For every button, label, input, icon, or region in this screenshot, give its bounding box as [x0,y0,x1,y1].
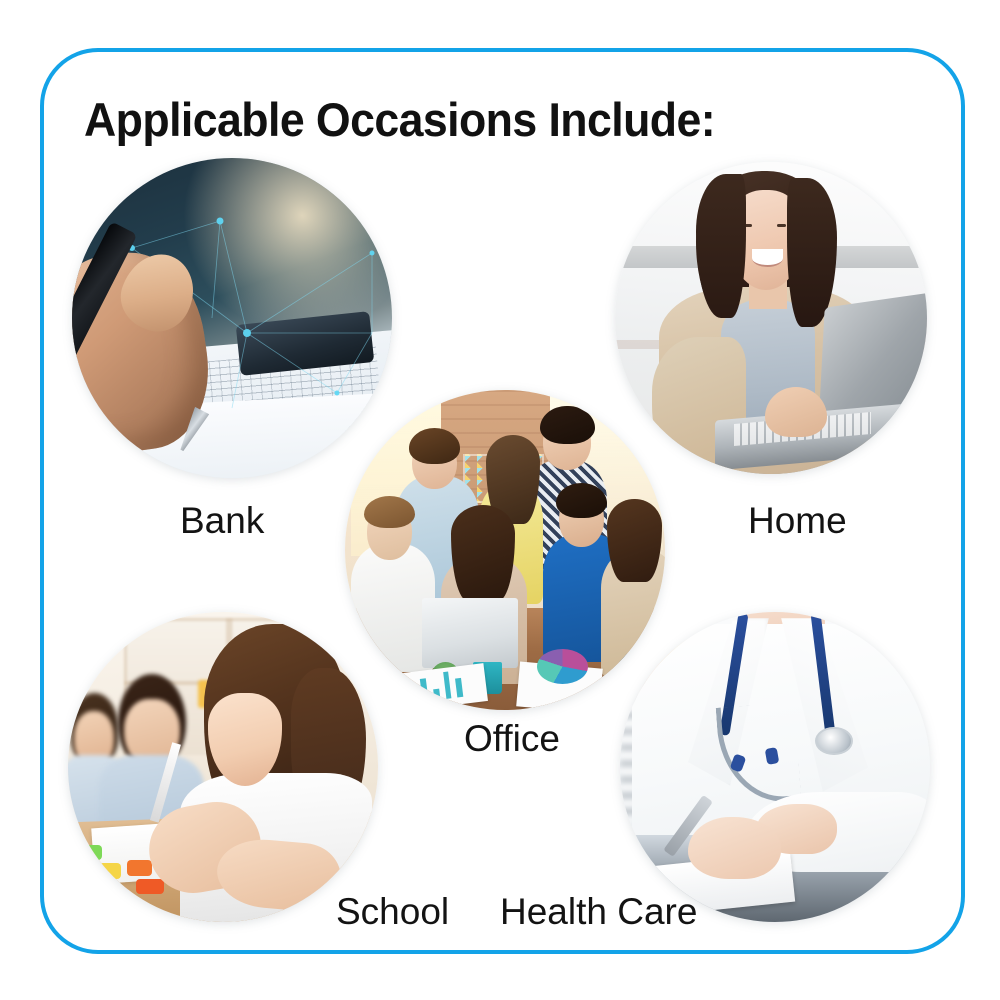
occasion-circle-bank[interactable] [72,158,392,478]
occasion-label-school: School [336,891,449,933]
occasion-circle-office[interactable] [345,390,665,710]
applicable-occasions-panel: Applicable Occasions Include: [0,0,1000,1000]
occasion-circle-school[interactable] [68,612,378,922]
occasion-circle-health-care[interactable] [620,612,930,922]
occasion-label-home: Home [748,500,847,542]
school-photo [68,612,378,922]
occasion-label-office: Office [464,718,560,760]
occasion-label-health-care: Health Care [500,891,697,933]
health-care-photo [620,612,930,922]
bank-photo [72,158,392,478]
office-photo [345,390,665,710]
page-title: Applicable Occasions Include: [84,92,715,147]
occasion-label-bank: Bank [180,500,264,542]
